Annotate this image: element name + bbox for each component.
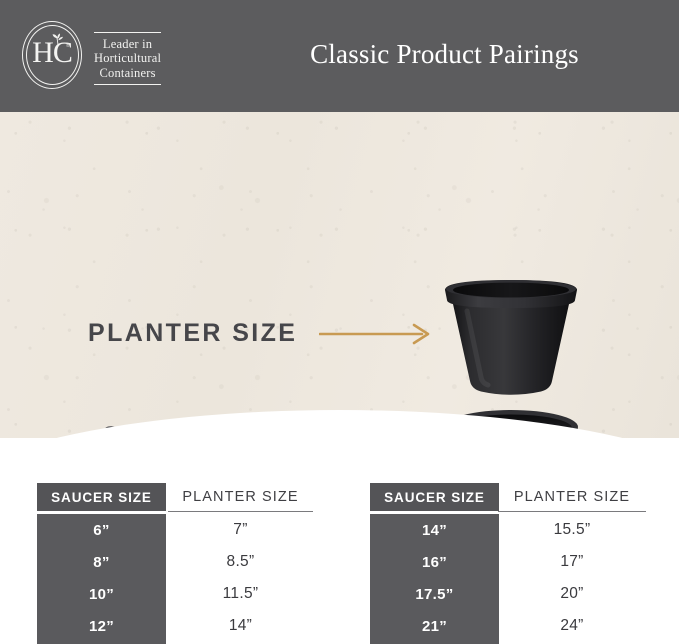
table-cell: 10” [37, 578, 166, 610]
table-cell: 16” [370, 546, 499, 578]
table-cell: 15.5” [498, 514, 646, 546]
table-cell: 6” [37, 514, 166, 546]
logo-rule-bottom [94, 84, 161, 85]
logo-rule-top [94, 32, 161, 33]
column-header-planter-size: PLANTER SIZE [168, 483, 313, 512]
logo-trademark: ® [66, 43, 70, 49]
header-bar: HC ® Leader in Horticultural Containers … [0, 0, 679, 112]
callout-planter-label: PLANTER SIZE [88, 319, 297, 348]
hero-panel: PLANTER SIZE SAUCER SIZE [0, 112, 679, 438]
table-cell: 7” [168, 514, 313, 546]
logo-tagline-line-1: Leader in [94, 37, 161, 52]
logo-tagline-line-3: Containers [94, 66, 161, 81]
size-tables-section: SAUCER SIZE PLANTER SIZE 6” 8” 10” 12” 7… [0, 438, 679, 636]
table-cell: 8” [37, 546, 166, 578]
planter-product-image [441, 277, 581, 402]
table-cell: 17” [498, 546, 646, 578]
planter-size-column: 15.5” 17” 20” 24” [498, 514, 646, 642]
table-cell: 14” [168, 610, 313, 642]
planter-size-column: 7” 8.5” 11.5” 14” [168, 514, 313, 642]
table-cell: 8.5” [168, 546, 313, 578]
logo-tagline-line-2: Horticultural [94, 51, 161, 66]
table-cell: 14” [370, 514, 499, 546]
callout-planter-size: PLANTER SIZE [88, 319, 437, 348]
saucer-size-column: 6” 8” 10” 12” [37, 514, 166, 642]
table-cell: 21” [370, 610, 499, 642]
table-cell: 17.5” [370, 578, 499, 610]
saucer-size-column: 14” 16” 17.5” 21” [370, 514, 499, 642]
table-cell: 11.5” [168, 578, 313, 610]
table-cell: 12” [37, 610, 166, 642]
column-header-planter-size: PLANTER SIZE [498, 483, 646, 512]
table-cell: 20” [498, 578, 646, 610]
column-header-saucer-size: SAUCER SIZE [370, 483, 499, 511]
table-cell: 24” [498, 610, 646, 642]
arrow-right-icon [319, 323, 437, 345]
product-pairings-infographic: { "header": { "title": "Classic Product … [0, 0, 679, 636]
logo-tagline: Leader in Horticultural Containers [94, 26, 161, 89]
brand-logo[interactable]: HC ® Leader in Horticultural Containers [22, 20, 197, 94]
logo-oval-mark: HC ® [22, 21, 86, 93]
column-header-saucer-size: SAUCER SIZE [37, 483, 166, 511]
logo-monogram: HC [22, 38, 82, 68]
page-title: Classic Product Pairings [210, 0, 679, 112]
